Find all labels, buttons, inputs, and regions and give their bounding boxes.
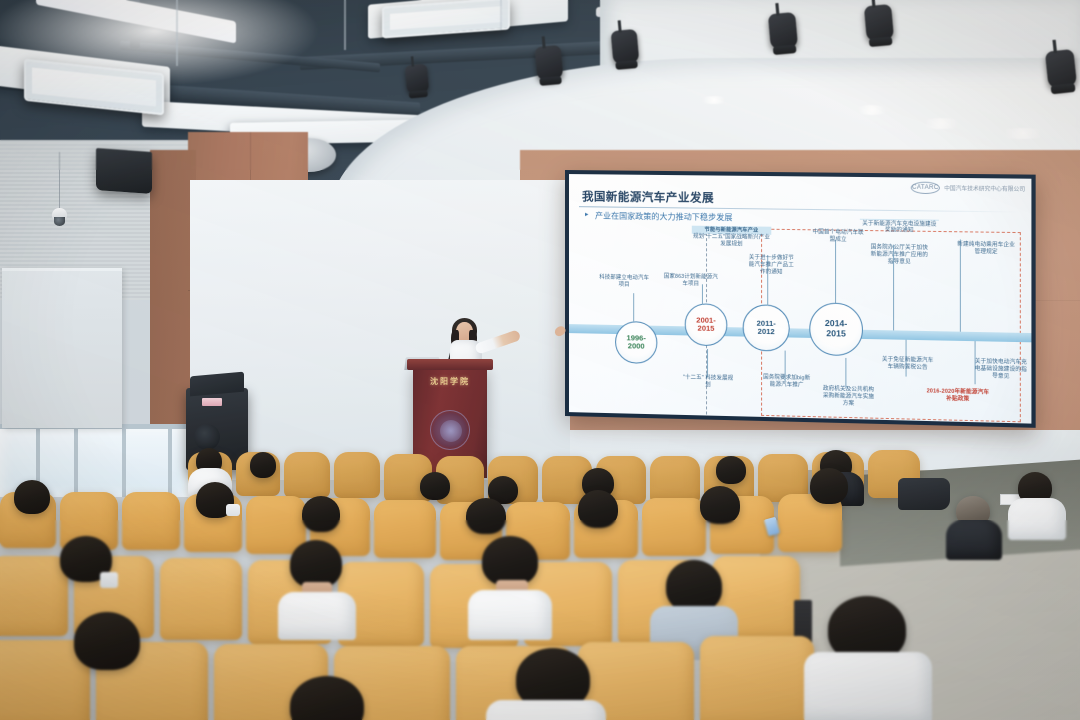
slide-tag: 关于新能源汽车充电设施建设奖励的通知: [860, 219, 939, 235]
seat[interactable]: [374, 500, 436, 558]
slide-logo-text: 中国汽车技术研究中心有限公司: [944, 184, 1025, 193]
catarc-logo-icon: CATARC: [911, 182, 940, 195]
stage-spotlight-icon: [535, 45, 564, 81]
stage-spotlight-icon: [405, 64, 430, 95]
timeline-tick: [707, 349, 708, 377]
stage-spotlight-icon: [768, 12, 798, 50]
timeline-node-2001-2015: 2001- 2015: [685, 303, 728, 346]
tag-body: 中国首个电动汽车联盟成立: [813, 229, 864, 242]
slide-tag: 关于加快电动汽车充电基础设施建设的指导意见: [975, 359, 1028, 381]
timeline-tick: [845, 358, 846, 389]
tag-body: 关于加快电动汽车充电基础设施建设的指导意见: [975, 359, 1027, 380]
projection-screen[interactable]: CATARC 中国汽车技术研究中心有限公司 我国新能源汽车产业发展 产业在国家政…: [565, 170, 1036, 428]
window-mullion: [122, 425, 126, 497]
node-line2: 2012: [758, 328, 775, 337]
audience-head: [290, 540, 342, 588]
audience-head: [578, 490, 618, 528]
audience-head: [420, 472, 450, 500]
timeline-node-2014-2015: 2014- 2015: [809, 302, 863, 356]
tag-body: 科技部建立电动汽车项目: [599, 275, 649, 288]
tag-body: 规划"十二五"国家战略新兴产业发展规划: [693, 234, 770, 248]
audience-head: [482, 536, 538, 586]
stage-spotlight-icon: [611, 29, 640, 65]
timeline-node-2011-2012: 2011- 2012: [743, 304, 790, 351]
slide-tag: 政府机关及公共机构采购新能源汽车实施方案: [821, 386, 877, 408]
downlight: [700, 96, 728, 104]
lectern-nameplate: 沈阳学院: [413, 376, 487, 387]
downlight: [855, 105, 889, 115]
slide-tag-highlighted: 2016-2020年新能源汽车补贴政策: [924, 388, 991, 403]
audience-head-foreground: [74, 612, 140, 670]
timeline-tick: [633, 293, 634, 321]
audience-shirt-foreground: [804, 652, 932, 720]
face-mask: [226, 504, 240, 516]
suspension-rod: [500, 0, 502, 30]
audience-shirt: [1008, 498, 1066, 540]
seat[interactable]: [650, 456, 700, 504]
audience-shirt: [278, 592, 356, 640]
seat[interactable]: [700, 636, 814, 720]
tag-body: 关于进一步做好节能汽车推广产品工作的通知: [749, 255, 794, 275]
university-emblem-icon: [430, 410, 470, 450]
slide-tag: 新建纯电动乘用车企业管理规定: [956, 241, 1017, 256]
audience-head: [466, 498, 506, 534]
tag-body: 国务院办公厅关于加快新能源汽车推广应用的指导意见: [871, 244, 928, 264]
slide-subtitle: 产业在国家政策的大力推动下稳步发展: [595, 210, 732, 223]
slide-tag: "十二五" 科技发展规划: [682, 375, 735, 390]
window-roller-blind[interactable]: [2, 268, 122, 428]
seat[interactable]: [122, 492, 180, 550]
slide-tag: 国家863计划新能源汽车项目: [663, 274, 718, 289]
window-mullion: [74, 425, 78, 497]
slide-tag: 关于免征新能源汽车车辆购置税公告: [881, 357, 935, 372]
lectern-top: [407, 359, 493, 370]
slide-tag: 中国首个电动汽车联盟成立: [810, 229, 866, 243]
face-mask: [100, 572, 118, 588]
wall-speaker-icon: [96, 148, 152, 194]
tag-body: 关于免征新能源汽车车辆购置税公告: [882, 357, 933, 371]
seat[interactable]: [334, 452, 380, 498]
ptz-camera-icon: [52, 208, 67, 227]
tag-body: 国务院要求加big新能源汽车推广: [763, 374, 810, 388]
downlight: [1000, 128, 1046, 139]
timeline-tick: [835, 240, 836, 303]
suspension-rod: [344, 0, 346, 50]
presenter-arm: [474, 329, 521, 354]
audience-head: [810, 468, 848, 504]
stage-spotlight-icon: [864, 4, 894, 42]
seat[interactable]: [284, 452, 330, 498]
seat[interactable]: [642, 498, 706, 556]
stage-spotlight-icon: [1045, 49, 1077, 89]
audience-head: [250, 452, 276, 478]
audience-shirt-foreground: [486, 700, 606, 720]
audience-shirt: [468, 590, 552, 640]
camera-cable: [59, 152, 60, 210]
slide-tag: 科技部建立电动汽车项目: [599, 275, 649, 289]
slide-tag: 节能与新能源汽车产业 规划"十二五"国家战略新兴产业发展规划: [692, 226, 771, 249]
seat[interactable]: [246, 496, 306, 554]
window-mullion: [168, 425, 172, 497]
audience-head: [666, 560, 722, 612]
downlight: [920, 118, 962, 129]
tag-body: "十二五" 科技发展规划: [683, 375, 733, 388]
audience-head: [700, 486, 740, 524]
audience-head: [716, 456, 746, 484]
draped-jacket: [898, 478, 950, 510]
node-line2: 2000: [628, 342, 645, 351]
speaker-cone-icon: [194, 424, 220, 450]
suspension-rod: [176, 0, 178, 66]
seat[interactable]: [0, 556, 68, 636]
slide-tag: 关于进一步做好节能汽车推广产品工作的通知: [747, 255, 796, 276]
slide-logo: CATARC 中国汽车技术研究中心有限公司: [911, 182, 1025, 196]
node-line2: 2015: [826, 329, 846, 339]
presentation-slide: CATARC 中国汽车技术研究中心有限公司 我国新能源汽车产业发展 产业在国家政…: [569, 174, 1031, 424]
tag-body: 国家863计划新能源汽车项目: [664, 274, 718, 287]
seat[interactable]: [160, 558, 242, 640]
audience-shirt: [946, 520, 1002, 560]
monitor-label: [202, 398, 222, 406]
audience-head: [302, 496, 340, 532]
slide-title: 我国新能源汽车产业发展: [582, 188, 714, 206]
tag-body: 新建纯电动乘用车企业管理规定: [957, 241, 1015, 255]
slide-tag: 国务院要求加big新能源汽车推广: [761, 374, 812, 389]
camera-dome: [54, 217, 65, 226]
tag-body: 关于新能源汽车充电设施建设奖励的通知: [862, 220, 936, 234]
tag-body: 政府机关及公共机构采购新能源汽车实施方案: [823, 386, 874, 407]
auditorium-photo: CATARC 中国汽车技术研究中心有限公司 我国新能源汽车产业发展 产业在国家政…: [0, 0, 1080, 720]
timeline-node-1996-2000: 1996- 2000: [615, 321, 657, 364]
node-line2: 2015: [698, 325, 715, 334]
slide-tag: 国务院办公厅关于加快新能源汽车推广应用的指导意见: [870, 244, 928, 266]
audience-head: [14, 480, 50, 514]
tag-body: 2016-2020年新能源汽车补贴政策: [927, 388, 989, 402]
